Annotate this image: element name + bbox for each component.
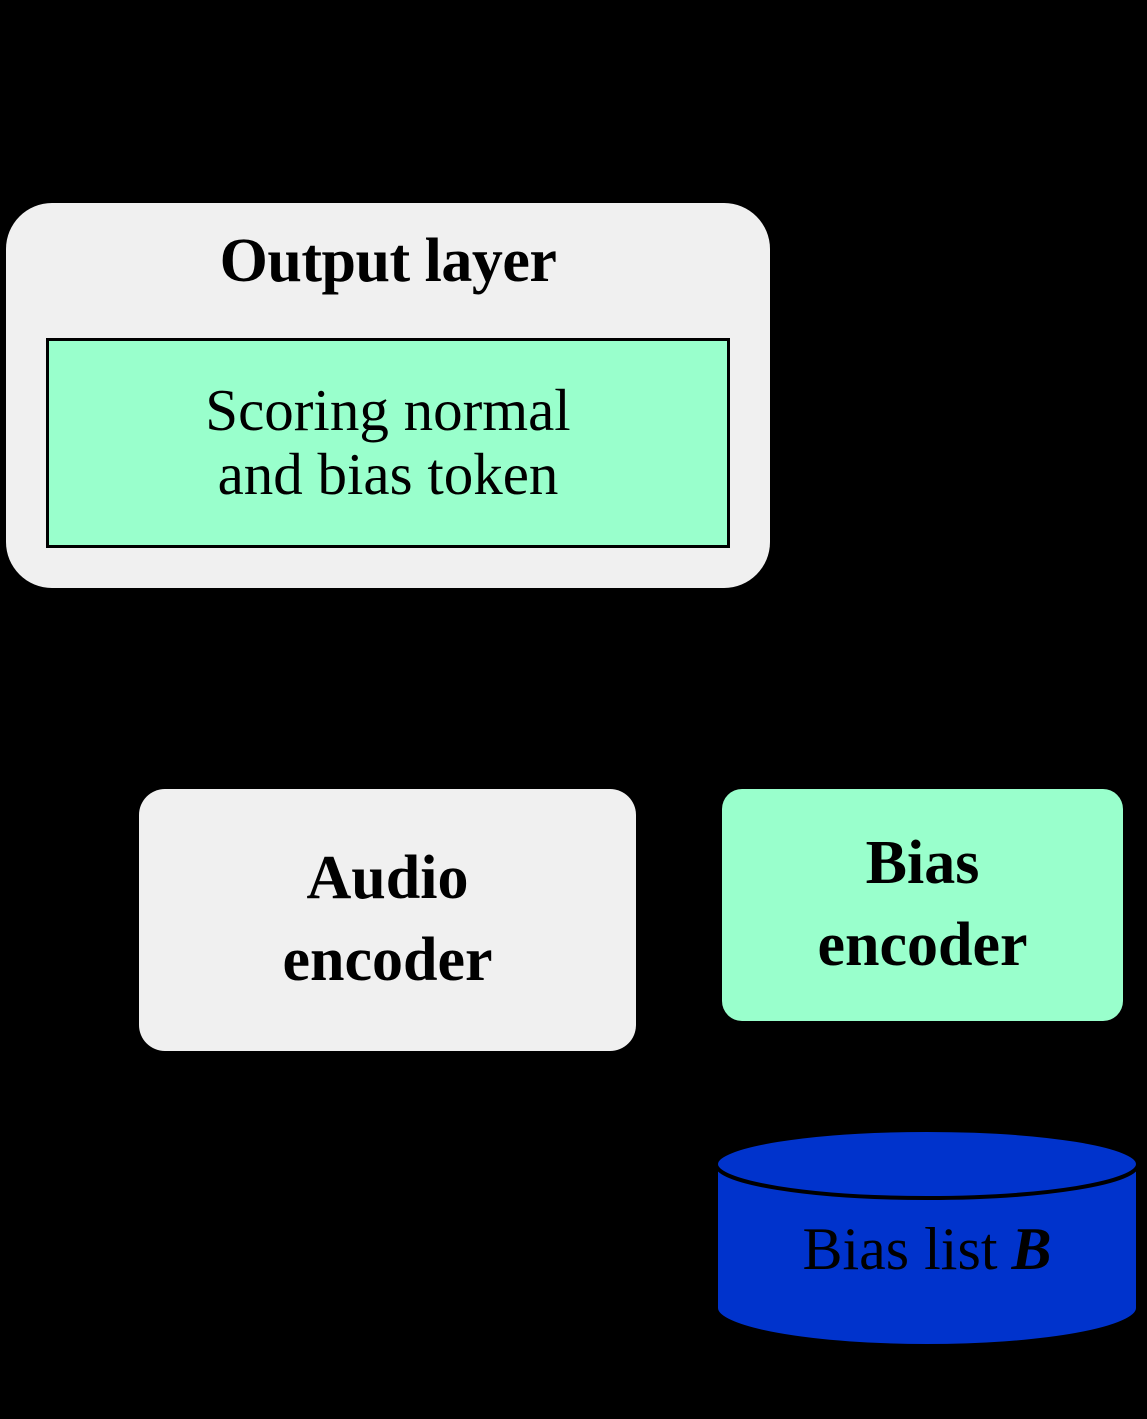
output-layer-block[interactable]: Output layer Scoring normal and bias tok… <box>6 203 770 588</box>
scoring-block[interactable]: Scoring normal and bias token <box>46 338 730 548</box>
audio-encoder-label-line-2: encoder <box>282 920 492 1002</box>
scoring-label-line-1: Scoring normal <box>205 379 570 443</box>
audio-encoder-label-line-1: Audio <box>307 838 469 920</box>
diagram-canvas: Output layer Scoring normal and bias tok… <box>0 0 1147 1419</box>
bias-encoder-label-line-1: Bias <box>866 823 980 905</box>
bias-encoder-label-line-2: encoder <box>817 905 1027 987</box>
output-layer-title: Output layer <box>6 229 770 294</box>
bias-list-database[interactable]: Bias list B <box>712 1126 1142 1346</box>
scoring-label-line-2: and bias token <box>218 443 559 507</box>
database-cylinder-icon <box>712 1126 1142 1346</box>
bias-encoder-block[interactable]: Bias encoder <box>722 789 1123 1021</box>
audio-encoder-block[interactable]: Audio encoder <box>139 789 636 1051</box>
